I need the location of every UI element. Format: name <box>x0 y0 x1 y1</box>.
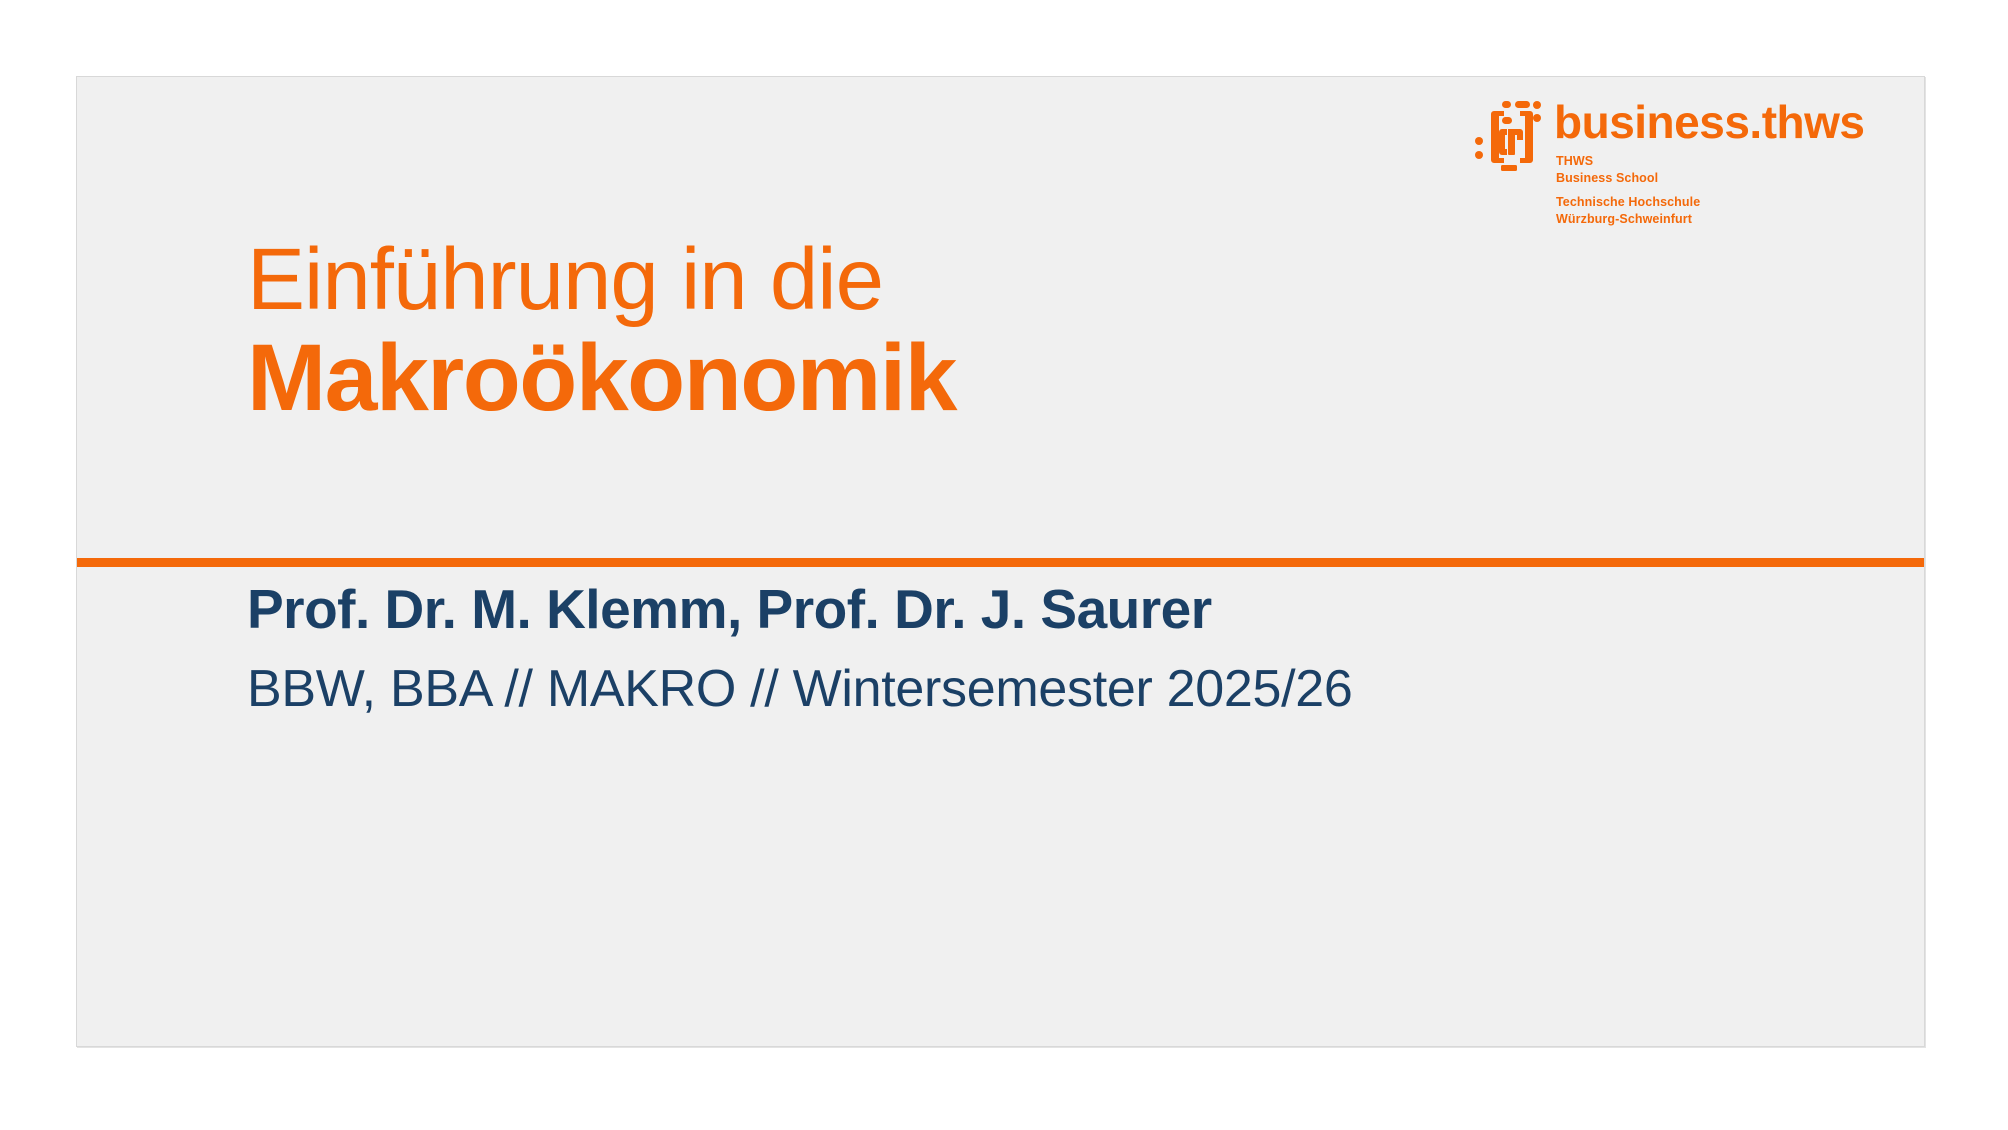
business-thws-bracket-icon <box>1474 97 1550 177</box>
slide-subtitle-block: Prof. Dr. M. Klemm, Prof. Dr. J. Saurer … <box>247 577 1797 720</box>
course-and-semester: BBW, BBA // MAKRO // Wintersemester 2025… <box>247 658 1797 720</box>
logo-subline-business-school: Business School <box>1556 170 1658 186</box>
institution-logo: business.thws THWS Business School Techn… <box>1474 91 1894 221</box>
title-line-emphasis: Makroökonomik <box>247 329 1747 429</box>
accent-divider-rule <box>77 558 1924 567</box>
logo-wordmark: business.thws <box>1554 99 1864 145</box>
logo-subline-technische-hochschule: Technische Hochschule <box>1556 194 1700 210</box>
presenter-names: Prof. Dr. M. Klemm, Prof. Dr. J. Saurer <box>247 577 1797 642</box>
slide-title-block: Einführung in die Makroökonomik <box>247 235 1747 428</box>
title-line-primary: Einführung in die <box>247 235 1747 325</box>
logo-subline-thws: THWS <box>1556 153 1593 169</box>
slide-page: business.thws THWS Business School Techn… <box>0 0 2008 1130</box>
presentation-slide: business.thws THWS Business School Techn… <box>76 76 1925 1047</box>
logo-subline-wuerzburg-schweinfurt: Würzburg-Schweinfurt <box>1556 211 1692 227</box>
